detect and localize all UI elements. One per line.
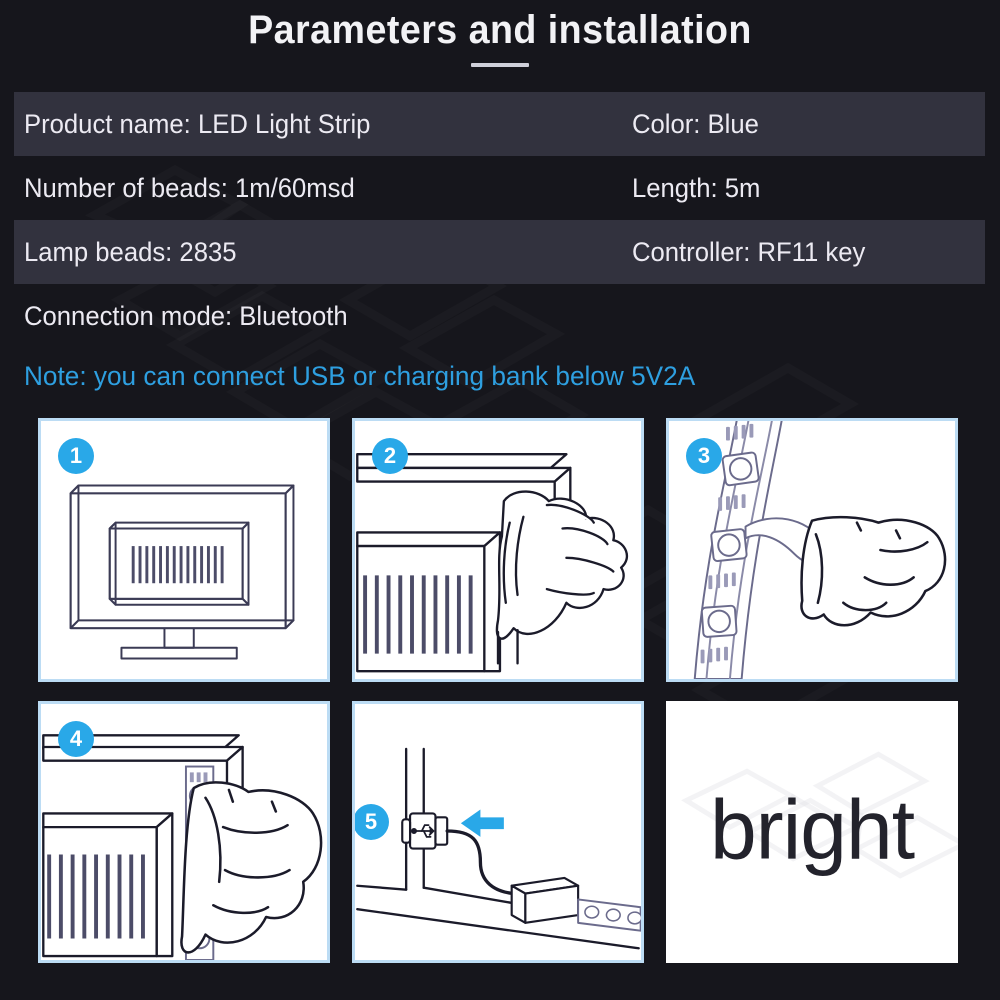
spec-color: Color: Blue [632, 111, 759, 138]
note-row: Note: you can connect USB or charging ba… [0, 348, 1000, 404]
panel-result-bright: bright [666, 701, 958, 963]
spec-row: Product name: LED Light Strip Color: Blu… [0, 92, 1000, 156]
step-badge-3: 3 [686, 438, 722, 474]
spec-connection-mode: Connection mode: Bluetooth [24, 303, 348, 330]
spec-row: Connection mode: Bluetooth [0, 284, 1000, 348]
bright-label: bright [666, 782, 958, 879]
spec-number-of-beads: Number of beads: 1m/60msd [24, 175, 355, 202]
spec-controller: Controller: RF11 key [632, 239, 865, 266]
page-title: Parameters and installation [30, 8, 970, 52]
usb-plug-icon [355, 704, 641, 960]
panel-clean-surface[interactable]: 2 [352, 418, 644, 682]
step-badge-5: 5 [353, 804, 389, 840]
spec-length: Length: 5m [632, 175, 760, 202]
title-underline [471, 63, 529, 67]
panel-peel-backing[interactable]: 3 [666, 418, 958, 682]
panel-tv-front[interactable]: 1 [38, 418, 330, 682]
step-badge-2: 2 [372, 438, 408, 474]
spec-row: Lamp beads: 2835 Controller: RF11 key [0, 220, 1000, 284]
step-badge-1: 1 [58, 438, 94, 474]
installation-steps-grid: 1 [38, 418, 962, 963]
spec-lamp-beads: Lamp beads: 2835 [24, 239, 237, 266]
note-text: Note: you can connect USB or charging ba… [24, 363, 695, 390]
spec-table: Product name: LED Light Strip Color: Blu… [0, 92, 1000, 404]
spec-product-name: Product name: LED Light Strip [24, 111, 370, 138]
header: Parameters and installation [0, 8, 1000, 67]
spec-row: Number of beads: 1m/60msd Length: 5m [0, 156, 1000, 220]
panel-attach-strip[interactable]: 4 [38, 701, 330, 963]
step-badge-4: 4 [58, 721, 94, 757]
panel-connect-usb[interactable]: 5 [352, 701, 644, 963]
